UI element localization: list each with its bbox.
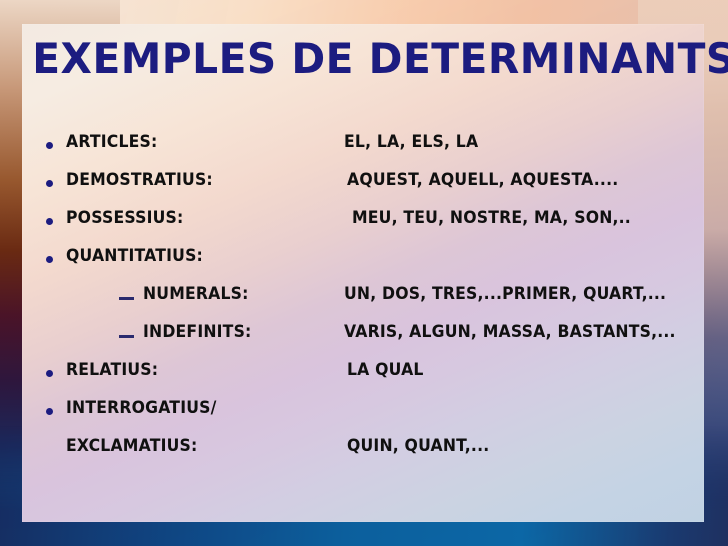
determiner-examples-value: QUIN, QUANT,... [347, 436, 489, 455]
determiner-category-label: NUMERALS: [143, 284, 249, 303]
determiner-category-label: POSSESSIUS: [66, 208, 183, 227]
list-item: QUANTITATIUS: [22, 244, 704, 282]
list-item: RELATIUS:LA QUAL [22, 358, 704, 396]
bullet-icon [46, 142, 53, 149]
determiner-examples-value: EL, LA, ELS, LA [344, 132, 478, 151]
determiner-category-label: INTERROGATIUS/ [66, 398, 217, 417]
determiner-category-label: DEMOSTRATIUS: [66, 170, 213, 189]
list-item: EXCLAMATIUS:QUIN, QUANT,... [22, 434, 704, 472]
slide-title: EXEMPLES DE DETERMINANTS [32, 38, 694, 80]
determiner-category-label: QUANTITATIUS: [66, 246, 203, 265]
determiner-examples-value: MEU, TEU, NOSTRE, MA, SON,.. [352, 208, 631, 227]
list-item: NUMERALS:UN, DOS, TRES,...PRIMER, QUART,… [22, 282, 704, 320]
determiner-category-label: EXCLAMATIUS: [66, 436, 197, 455]
list-item: ARTICLES:EL, LA, ELS, LA [22, 130, 704, 168]
slide-canvas: EXEMPLES DE DETERMINANTS ARTICLES:EL, LA… [0, 0, 728, 546]
determiner-list: ARTICLES:EL, LA, ELS, LADEMOSTRATIUS:AQU… [22, 130, 704, 472]
bullet-icon [46, 180, 53, 187]
determiner-category-label: ARTICLES: [66, 132, 157, 151]
determiner-category-label: RELATIUS: [66, 360, 158, 379]
determiner-examples-value: LA QUAL [347, 360, 424, 379]
determiner-examples-value: VARIS, ALGUN, MASSA, BASTANTS,... [344, 322, 676, 341]
bullet-icon [46, 408, 53, 415]
determiner-examples-value: AQUEST, AQUELL, AQUESTA.... [347, 170, 618, 189]
list-item: DEMOSTRATIUS:AQUEST, AQUELL, AQUESTA.... [22, 168, 704, 206]
bullet-icon [46, 256, 53, 263]
dash-bullet-icon [119, 335, 134, 338]
list-item: INDEFINITS:VARIS, ALGUN, MASSA, BASTANTS… [22, 320, 704, 358]
determiner-examples-value: UN, DOS, TRES,...PRIMER, QUART,... [344, 284, 666, 303]
list-item: INTERROGATIUS/ [22, 396, 704, 434]
bullet-icon [46, 370, 53, 377]
dash-bullet-icon [119, 297, 134, 300]
determiner-category-label: INDEFINITS: [143, 322, 252, 341]
slide-content-panel: EXEMPLES DE DETERMINANTS ARTICLES:EL, LA… [22, 24, 704, 522]
list-item: POSSESSIUS:MEU, TEU, NOSTRE, MA, SON,.. [22, 206, 704, 244]
bullet-icon [46, 218, 53, 225]
